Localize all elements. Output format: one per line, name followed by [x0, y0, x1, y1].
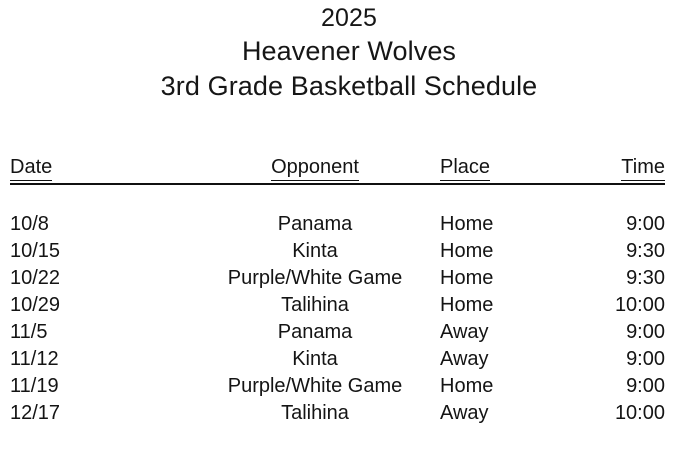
game-place: Home	[440, 211, 565, 238]
game-opponent: Kinta	[190, 238, 440, 265]
game-date: 10/15	[10, 238, 190, 265]
game-place: Away	[440, 400, 565, 427]
title-year: 2025	[0, 2, 698, 34]
game-date: 11/19	[10, 373, 190, 400]
game-date: 11/5	[10, 319, 190, 346]
game-time: 9:30	[565, 265, 665, 292]
game-date: 10/8	[10, 211, 190, 238]
game-opponent: Panama	[190, 319, 440, 346]
game-time: 9:30	[565, 238, 665, 265]
table-body: 10/8PanamaHome9:0010/15KintaHome9:3010/2…	[10, 184, 665, 427]
basketball-schedule-table: Date Opponent Place Time 10/8	[10, 155, 665, 427]
game-opponent: Talihina	[190, 292, 440, 319]
column-header-opponent: Opponent	[190, 155, 440, 184]
column-header-time-label: Time	[621, 155, 665, 181]
game-place: Away	[440, 319, 565, 346]
game-place: Home	[440, 292, 565, 319]
game-date: 12/17	[10, 400, 190, 427]
game-place: Away	[440, 346, 565, 373]
table-row: 10/22Purple/White GameHome9:30	[10, 265, 665, 292]
table-row: 10/15KintaHome9:30	[10, 238, 665, 265]
column-header-date: Date	[10, 155, 190, 184]
table-row: 10/29TalihinaHome10:00	[10, 292, 665, 319]
game-place: Home	[440, 238, 565, 265]
game-opponent: Kinta	[190, 346, 440, 373]
title-schedule-subtitle: 3rd Grade Basketball Schedule	[0, 69, 698, 104]
table-header-row: Date Opponent Place Time	[10, 155, 665, 184]
game-place: Home	[440, 373, 565, 400]
column-header-place-label: Place	[440, 155, 490, 181]
table-row: 11/5PanamaAway9:00	[10, 319, 665, 346]
header-body-spacer	[10, 184, 665, 211]
game-opponent: Purple/White Game	[190, 373, 440, 400]
game-date: 11/12	[10, 346, 190, 373]
game-time: 9:00	[565, 373, 665, 400]
column-header-time: Time	[565, 155, 665, 184]
table-row: 10/8PanamaHome9:00	[10, 211, 665, 238]
column-header-opponent-label: Opponent	[271, 155, 359, 181]
game-place: Home	[440, 265, 565, 292]
game-time: 9:00	[565, 346, 665, 373]
game-time: 10:00	[565, 400, 665, 427]
game-opponent: Purple/White Game	[190, 265, 440, 292]
game-opponent: Panama	[190, 211, 440, 238]
game-time: 10:00	[565, 292, 665, 319]
title-team-name: Heavener Wolves	[0, 34, 698, 69]
game-time: 9:00	[565, 319, 665, 346]
table-row: 11/19Purple/White GameHome9:00	[10, 373, 665, 400]
table-row: 11/12KintaAway9:00	[10, 346, 665, 373]
game-time: 9:00	[565, 211, 665, 238]
column-header-date-label: Date	[10, 155, 52, 181]
column-header-place: Place	[440, 155, 565, 184]
game-date: 10/22	[10, 265, 190, 292]
game-date: 10/29	[10, 292, 190, 319]
table-header: Date Opponent Place Time	[10, 155, 665, 184]
game-opponent: Talihina	[190, 400, 440, 427]
schedule-document: 2025 Heavener Wolves 3rd Grade Basketbal…	[0, 0, 698, 460]
table-row: 12/17TalihinaAway10:00	[10, 400, 665, 427]
document-title-block: 2025 Heavener Wolves 3rd Grade Basketbal…	[0, 2, 698, 104]
